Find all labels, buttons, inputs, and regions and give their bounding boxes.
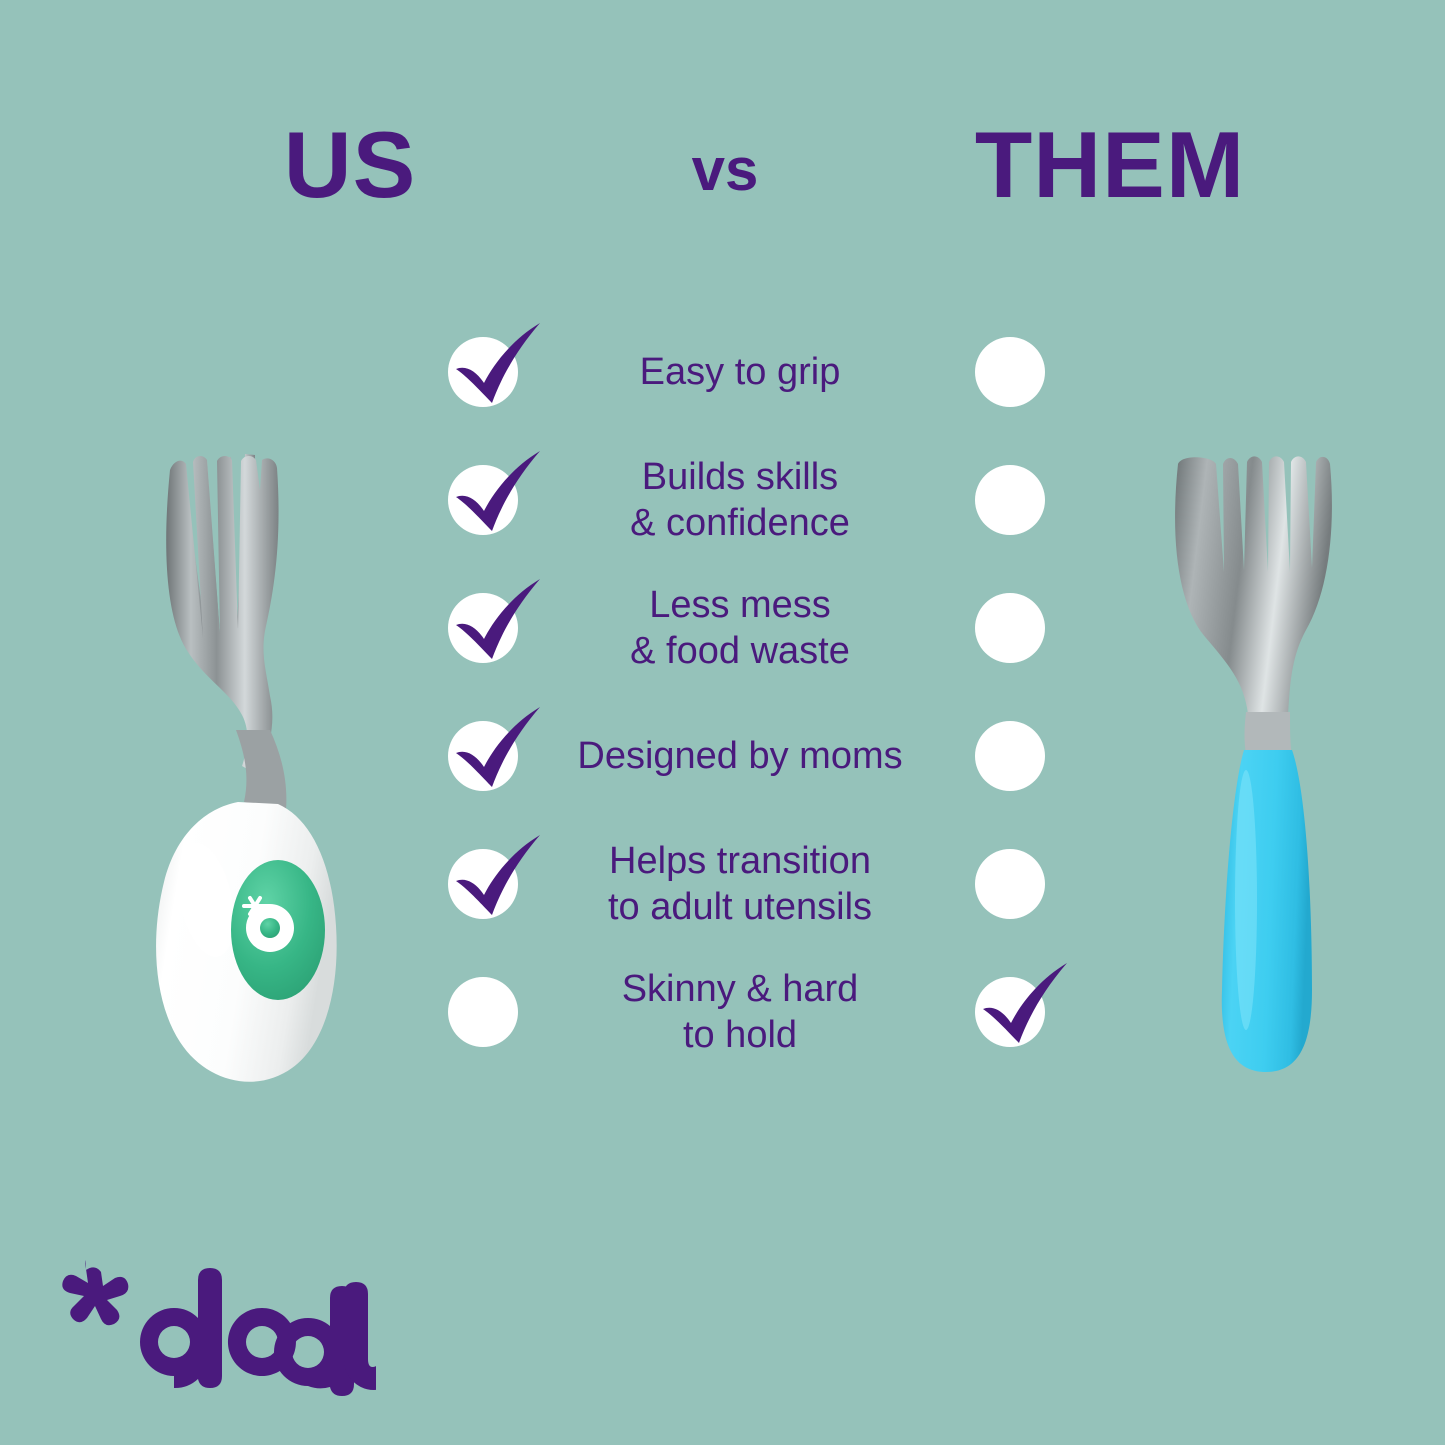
row-4-label-cell: Designed by moms xyxy=(540,692,940,820)
table-row: Builds skills & confidence xyxy=(0,436,1445,564)
row-4-us-cell xyxy=(408,692,558,820)
empty-circle-icon xyxy=(448,977,518,1047)
feature-label: Builds skills & confidence xyxy=(630,454,850,547)
asterisk-icon xyxy=(62,1260,128,1325)
checkmark-icon xyxy=(975,977,1045,1047)
mark-disc xyxy=(448,977,518,1047)
table-row: Designed by moms xyxy=(0,692,1445,820)
row-3-them-cell xyxy=(935,564,1085,692)
row-1-them-cell xyxy=(935,308,1085,436)
checkmark-icon xyxy=(448,849,518,919)
comparison-header: US vs THEM xyxy=(0,0,1445,250)
row-2-them-cell xyxy=(935,436,1085,564)
tick-glyph xyxy=(444,703,552,799)
row-3-label-cell: Less mess & food waste xyxy=(540,564,940,692)
tick-glyph xyxy=(444,831,552,927)
empty-circle-icon xyxy=(975,593,1045,663)
mark-disc xyxy=(975,465,1045,535)
row-5-us-cell xyxy=(408,820,558,948)
row-4-them-cell xyxy=(935,692,1085,820)
tick-glyph xyxy=(971,959,1079,1055)
feature-label: Easy to grip xyxy=(640,349,841,395)
mark-disc xyxy=(975,849,1045,919)
table-row: Easy to grip xyxy=(0,308,1445,436)
checkmark-icon xyxy=(448,593,518,663)
row-6-label-cell: Skinny & hard to hold xyxy=(540,948,940,1076)
feature-label: Skinny & hard to hold xyxy=(622,966,859,1059)
empty-circle-icon xyxy=(975,849,1045,919)
empty-circle-icon xyxy=(975,465,1045,535)
table-row: Skinny & hard to hold xyxy=(0,948,1445,1076)
mark-disc xyxy=(975,721,1045,791)
feature-label: Designed by moms xyxy=(577,733,902,779)
row-5-them-cell xyxy=(935,820,1085,948)
row-6-us-cell xyxy=(408,948,558,1076)
feature-label: Less mess & food waste xyxy=(630,582,850,675)
brand-logo-doddl xyxy=(56,1258,376,1408)
row-6-them-cell xyxy=(935,948,1085,1076)
row-1-label-cell: Easy to grip xyxy=(540,308,940,436)
checkmark-icon xyxy=(448,337,518,407)
column-heading-them: THEM xyxy=(930,118,1290,212)
column-heading-us: US xyxy=(170,118,530,212)
tick-glyph xyxy=(444,575,552,671)
mark-disc xyxy=(975,337,1045,407)
comparison-rows: Easy to grip Builds skills & confidence xyxy=(0,308,1445,1076)
empty-circle-icon xyxy=(975,337,1045,407)
column-heading-vs: vs xyxy=(615,140,835,200)
row-5-label-cell: Helps transition to adult utensils xyxy=(540,820,940,948)
row-3-us-cell xyxy=(408,564,558,692)
tick-glyph xyxy=(444,319,552,415)
table-row: Less mess & food waste xyxy=(0,564,1445,692)
empty-circle-icon xyxy=(975,721,1045,791)
checkmark-icon xyxy=(448,721,518,791)
doddl-wordmark xyxy=(56,1258,376,1408)
row-2-label-cell: Builds skills & confidence xyxy=(540,436,940,564)
mark-disc xyxy=(975,593,1045,663)
tick-glyph xyxy=(444,447,552,543)
checkmark-icon xyxy=(448,465,518,535)
row-2-us-cell xyxy=(408,436,558,564)
infographic-canvas: US vs THEM xyxy=(0,0,1445,1445)
table-row: Helps transition to adult utensils xyxy=(0,820,1445,948)
row-1-us-cell xyxy=(408,308,558,436)
feature-label: Helps transition to adult utensils xyxy=(608,838,872,931)
